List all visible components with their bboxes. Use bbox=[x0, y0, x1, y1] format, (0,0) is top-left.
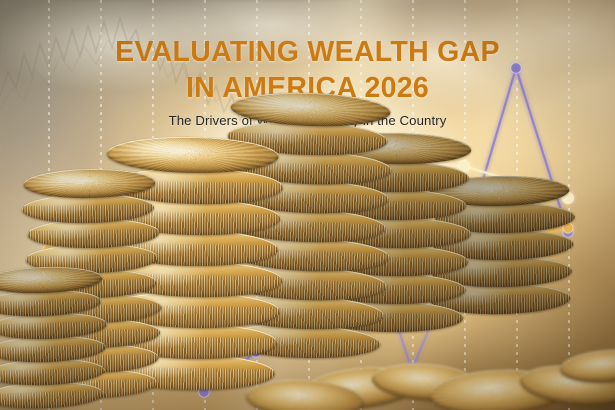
gold-coin-stacks bbox=[0, 150, 615, 410]
wealth-gap-banner: EVALUATING WEALTH GAP IN AMERICA 2026 Th… bbox=[0, 0, 615, 410]
coin-stack bbox=[0, 242, 107, 410]
gold-coin bbox=[0, 265, 103, 295]
gold-coin bbox=[23, 168, 155, 199]
